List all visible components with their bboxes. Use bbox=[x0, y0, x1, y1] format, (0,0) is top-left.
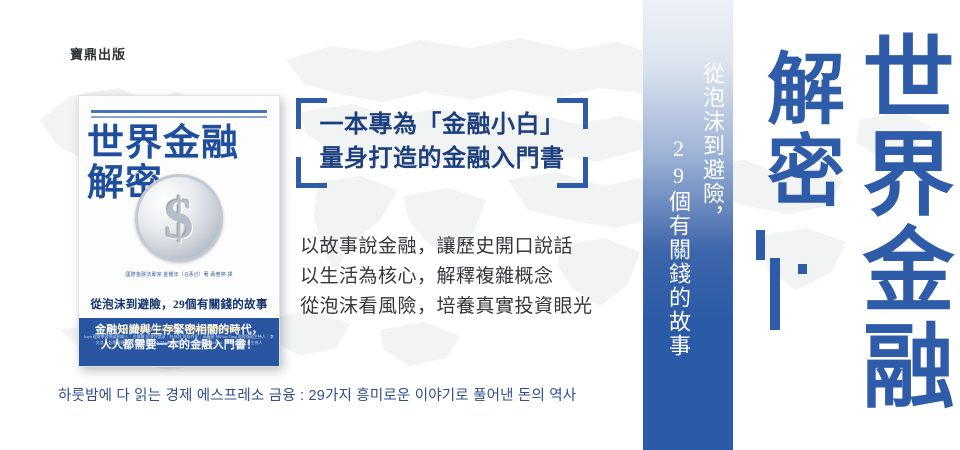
body-copy: 以故事說金融，讓歷史開口說話 以生活為核心，解釋複雜概念 從泡沫看風險，培養真實… bbox=[300, 232, 600, 322]
blue-vertical-panel: 從泡沫到避險， 29個有關錢的故事 bbox=[643, 0, 733, 450]
cover-subtitle: 從泡沫到避險，29個有關錢的故事 bbox=[79, 296, 279, 312]
headline-line2: 量身打造的金融入門書 bbox=[310, 142, 574, 176]
cover-rule-top bbox=[91, 110, 267, 113]
panel-column-left: 29個有關錢的故事 bbox=[665, 136, 691, 358]
body-line-1: 以故事說金融，讓歷史開口說話 bbox=[300, 232, 600, 262]
headline-block: 一本專為「金融小白」 量身打造的金融入門書 bbox=[296, 98, 588, 188]
decorative-dash-3 bbox=[798, 264, 807, 274]
cover-endorsements: kaya 理財學習頻道創辦人｜金鎮翼 經濟評論家｜朴成炫 財經作家｜高麗星 Mi… bbox=[83, 334, 275, 345]
cover-rule-second bbox=[91, 116, 267, 118]
cover-author-credit: 國際金融法專家 金鍾年（김종년）著 黃莞婷 譯 bbox=[79, 272, 279, 279]
main-title-column-left: 解密 bbox=[756, 48, 842, 212]
body-line-3: 從泡沫看風險，培養真實投資眼光 bbox=[300, 292, 600, 322]
banner-canvas: 寶鼎出版 世界金融 解密 國際金融法專家 金鍾年（김종년）著 黃莞婷 譯 從泡沫… bbox=[0, 0, 960, 450]
book-cover-image: 世界金融 解密 國際金融法專家 金鍾年（김종년）著 黃莞婷 譯 從泡沫到避險，2… bbox=[78, 95, 280, 367]
headline-line1: 一本專為「金融小白」 bbox=[310, 108, 574, 142]
cover-title-line1: 世界金融 bbox=[87, 123, 239, 164]
panel-column-right: 從泡沫到避險， bbox=[699, 62, 725, 230]
headline-text: 一本專為「金融小白」 量身打造的金融入門書 bbox=[310, 108, 574, 176]
decorative-dash-2 bbox=[770, 258, 780, 330]
decorative-dash-1 bbox=[756, 230, 765, 260]
publisher-label: 寶鼎出版 bbox=[70, 44, 126, 63]
body-line-2: 以生活為核心，解釋複雜概念 bbox=[300, 262, 600, 292]
korean-original-title: 하룻밤에 다 읽는 경제 에스프레소 금융 : 29가지 흥미로운 이야기로 풀… bbox=[58, 384, 576, 405]
dollar-coin-icon bbox=[135, 174, 223, 262]
main-vertical-title: 世界金融 解密 bbox=[742, 0, 960, 450]
main-title-column-right: 世界金融 bbox=[850, 30, 950, 414]
cover-star-rating: ★★★ 韓國 Yes24 讀者 9.7 顆星好評推薦 ★★★ bbox=[79, 325, 279, 333]
